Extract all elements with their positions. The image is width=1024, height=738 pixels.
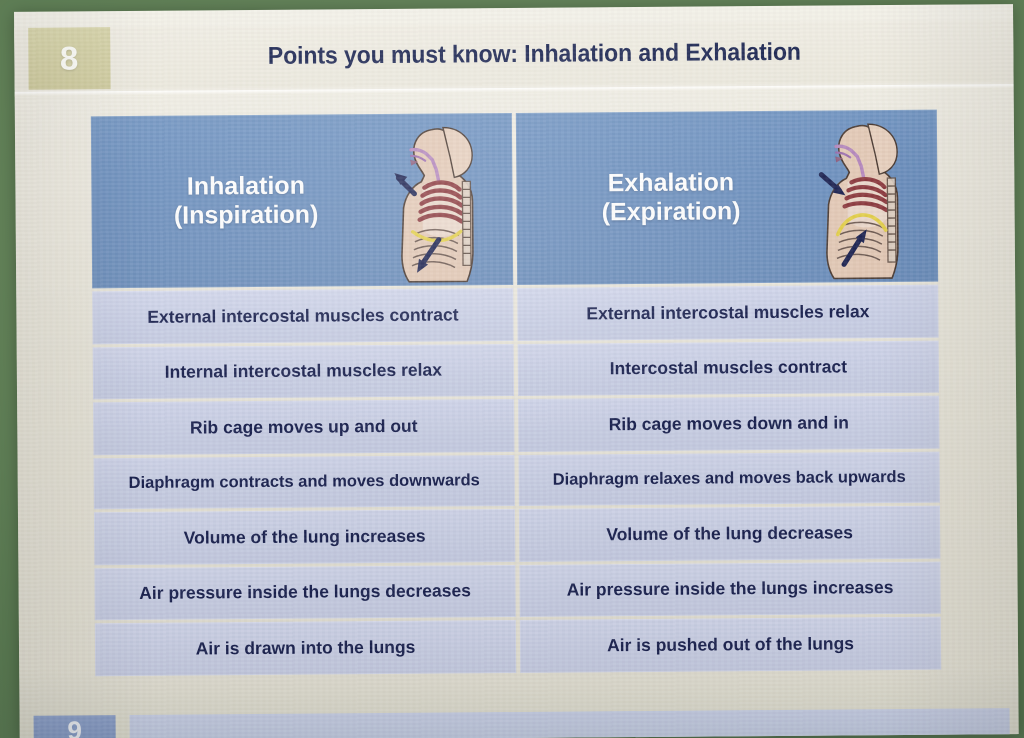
table-cell: External intercostal muscles relax [517, 285, 938, 341]
cell-text: Air is drawn into the lungs [196, 637, 416, 660]
table-cell: External intercostal muscles contract [92, 288, 513, 344]
table-cell: Diaphragm relaxes and moves back upwards [519, 451, 940, 506]
table-cell: Internal intercostal muscles relax [93, 344, 514, 400]
cell-text: External intercostal muscles relax [586, 301, 869, 325]
slide-number-badge: 8 [28, 27, 110, 90]
table-cell: Diaphragm contracts and moves downwards [94, 455, 515, 510]
table-cell: Rib cage moves up and out [93, 399, 514, 455]
cell-text: Diaphragm relaxes and moves back upwards [553, 467, 906, 490]
slide-number-text: 8 [60, 39, 79, 77]
next-slide-number-text: 9 [67, 715, 82, 738]
table-cell: Intercostal muscles contract [518, 340, 939, 396]
cell-text: Air pressure inside the lungs increases [567, 577, 894, 601]
comparison-table: Inhalation (Inspiration) [91, 110, 941, 677]
torso-inhalation-diagram-icon [388, 115, 507, 284]
next-slide-number-badge: 9 [34, 715, 116, 738]
printed-page: 8 Points you must know: Inhalation and E… [14, 4, 1019, 738]
table-cell: Volume of the lung decreases [519, 506, 940, 562]
table-cell: Air is drawn into the lungs [95, 620, 516, 676]
column-header-exhalation-label: Exhalation (Expiration) [516, 167, 813, 228]
cell-text: Rib cage moves up and out [190, 416, 418, 439]
table-column-exhalation: Exhalation (Expiration) [516, 110, 941, 673]
column-header-exhalation-line2: (Expiration) [532, 197, 809, 229]
table-cell: Air pressure inside the lungs decreases [94, 565, 515, 621]
cell-text: Volume of the lung decreases [606, 522, 853, 545]
cell-text: Rib cage moves down and in [609, 412, 849, 435]
next-slide-title-band [130, 708, 1010, 738]
table-cell: Volume of the lung increases [94, 509, 515, 565]
column-header-inhalation-line1: Inhalation [187, 171, 305, 200]
column-header-inhalation-line2: (Inspiration) [108, 200, 385, 232]
column-header-inhalation: Inhalation (Inspiration) [91, 113, 513, 288]
cell-text: Intercostal muscles contract [610, 357, 847, 380]
slide-title: Points you must know: Inhalation and Exh… [149, 21, 920, 89]
slide-8: 8 Points you must know: Inhalation and E… [14, 4, 1018, 700]
slide-title-text: Points you must know: Inhalation and Exh… [268, 39, 801, 71]
column-header-inhalation-label: Inhalation (Inspiration) [91, 170, 388, 231]
cell-text: Air is pushed out of the lungs [607, 633, 854, 656]
cell-text: Air pressure inside the lungs decreases [139, 581, 471, 605]
cell-text: Volume of the lung increases [184, 526, 426, 549]
column-header-exhalation: Exhalation (Expiration) [516, 110, 938, 285]
cell-text: Diaphragm contracts and moves downwards [129, 471, 480, 494]
table-cell: Air pressure inside the lungs increases [519, 561, 940, 617]
table-cell: Air is pushed out of the lungs [520, 617, 941, 673]
table-column-inhalation: Inhalation (Inspiration) [91, 113, 516, 676]
cell-text: Internal intercostal muscles relax [165, 360, 442, 384]
next-slide-preview: 9 [20, 704, 1019, 738]
table-cell: Rib cage moves down and in [518, 396, 939, 452]
column-header-exhalation-line1: Exhalation [608, 168, 735, 197]
cell-text: External intercostal muscles contract [147, 304, 458, 328]
photo-scene: 8 Points you must know: Inhalation and E… [0, 0, 1024, 738]
torso-exhalation-diagram-icon [813, 112, 932, 281]
arrow-ribs-up-out [394, 173, 414, 194]
